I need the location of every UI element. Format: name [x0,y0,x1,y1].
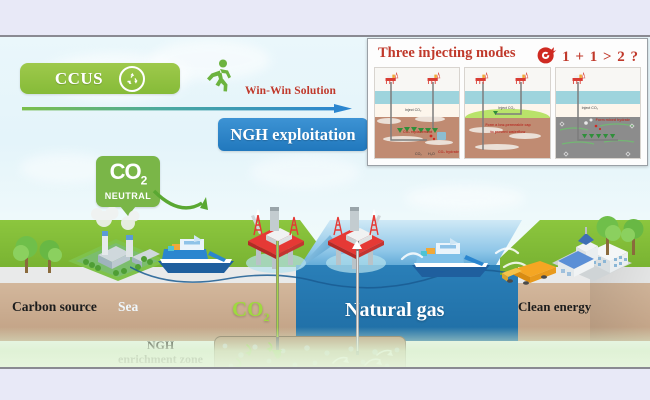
panel-3-label-0: Inject CO₂ [582,106,598,110]
panel-2-label-2: to prevent waterflow [490,130,525,134]
label-co2: CO2 [232,297,270,325]
co2-neutral-line1: CO2 [110,162,147,190]
mini-rig [473,71,490,85]
mini-rig [383,71,400,85]
mode-panel-1: Inject CO₂ CO₂ replacement CO₂ H₂O CO₂ h… [374,67,460,159]
recycle-icon [119,66,145,92]
bottom-foliage-haze [0,327,650,367]
panel-1-label-2: CO₂ [415,152,422,156]
mode-panel-2: Inject CO₂ Form a low-permeable cap to p… [464,67,550,159]
letterbox-band-top [0,0,650,37]
panel-1-label-0: Inject CO₂ [405,108,421,112]
figure-canvas: CCUS [0,0,650,400]
inset-title: Three injecting modes [378,45,515,62]
panel-2-label-1: Form a low-permeable cap [485,123,530,127]
label-sea: Sea [118,299,138,315]
panel-2-label-0: Inject CO₂ [498,106,514,110]
landscape-scene: Carbon source Sea CO2 Natural gas Clean … [0,195,650,340]
label-carbon-source: Carbon source [12,299,97,315]
mode-panel-3: Inject CO₂ Form mixed hydrate [555,67,641,159]
panel-1-label-4: CO₂ hydrate formation [438,150,460,154]
ccus-label: CCUS [55,69,103,89]
ccus-badge: CCUS [20,63,180,94]
label-clean-energy: Clean energy [518,299,591,315]
label-natural-gas: Natural gas [345,299,444,322]
tree-cluster-right [592,205,650,261]
panel-1-label-1: CO₂ replacement [403,130,432,134]
win-win-arrow [22,100,352,109]
letterbox-band-bottom [0,367,650,400]
arrow-label: Win-Win Solution [245,85,336,97]
mini-rig [513,71,530,85]
three-injecting-modes-inset: Three injecting modes 1 + 1 > 2 ? [367,38,648,166]
mini-rig [570,71,587,85]
cloud-shape [250,155,360,189]
panel-1-label-3: H₂O [428,152,435,156]
panel-3-label-1: Form mixed hydrate [596,118,630,122]
panel-3-detail [556,68,641,159]
graphical-abstract: CCUS [0,35,650,367]
equation-text: 1 + 1 > 2 ? [562,49,639,66]
mini-rig [425,71,442,85]
gas-up-arrow-icon [350,239,364,253]
mode-panels: Inject CO₂ CO₂ replacement CO₂ H₂O CO₂ h… [374,67,641,159]
running-person-icon [198,57,238,97]
ngh-label: NGH exploitation [230,125,355,145]
ngh-exploitation-badge: NGH exploitation [218,118,368,151]
